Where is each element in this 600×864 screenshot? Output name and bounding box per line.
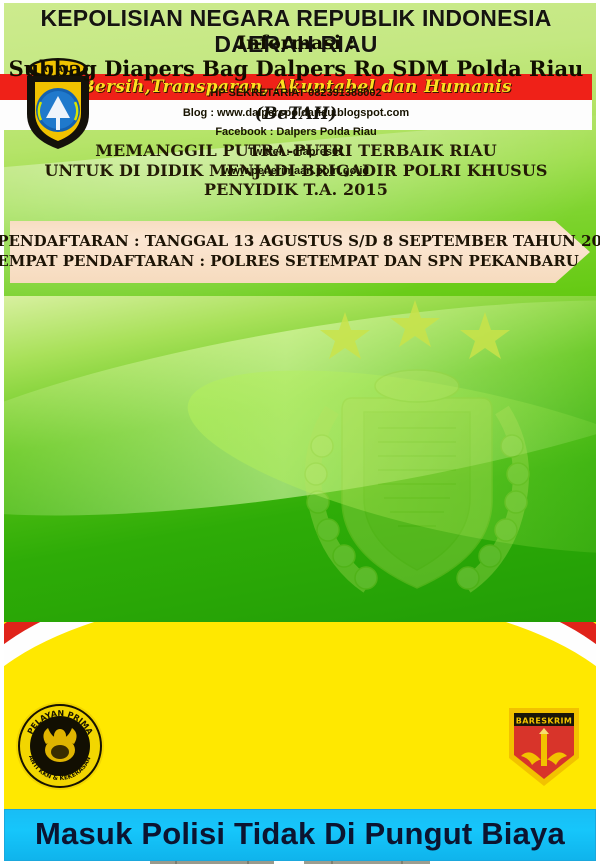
title-line-1: KEPOLISIAN NEGARA REPUBLIK INDONESIA bbox=[0, 6, 592, 32]
information-unit: Subbag Diapers Bag Dalpers Ro SDM Polda … bbox=[0, 56, 592, 82]
registration-line-1: BUKA PENDAFTARAN : TANGGAL 13 AGUSTUS S/… bbox=[0, 232, 600, 252]
contact-facebook[interactable]: Facebook : Dalpers Polda Riau bbox=[0, 124, 592, 141]
footer-yellow-strip bbox=[4, 802, 596, 809]
bareskrim-label: BARESKRIM bbox=[516, 717, 573, 726]
pelayan-prima-logo-icon: PELAYAN PRIMA ANTI KKN & KEKERASAN bbox=[14, 700, 106, 792]
recruitment-poster: KEPOLISIAN NEGARA REPUBLIK INDONESIA DAE… bbox=[0, 0, 600, 864]
contact-blog[interactable]: Blog : www.dalperspoldariau.blogspot.com bbox=[0, 105, 592, 122]
information-text: Informasi : Subbag Diapers Bag Dalpers R… bbox=[0, 32, 592, 180]
contact-twitter[interactable]: Twitter : diapres01 bbox=[0, 144, 592, 161]
information-heading: Informasi : bbox=[0, 32, 592, 55]
contact-hp: HP SEKRETARIAT 082391388002 bbox=[0, 85, 592, 102]
tribrata-emblem-watermark-icon bbox=[292, 350, 542, 605]
registration-line-2: TEMPAT PENDAFTARAN : POLRES SETEMPAT DAN… bbox=[0, 252, 579, 272]
registration-banner-text: BUKA PENDAFTARAN : TANGGAL 13 AGUSTUS S/… bbox=[10, 221, 555, 283]
footer-tagline: Masuk Polisi Tidak Di Pungut Biaya bbox=[4, 809, 596, 861]
contact-website[interactable]: www.penerimaan.polri.go.id bbox=[0, 163, 592, 180]
bareskrim-badge-icon: BARESKRIM bbox=[505, 704, 583, 790]
